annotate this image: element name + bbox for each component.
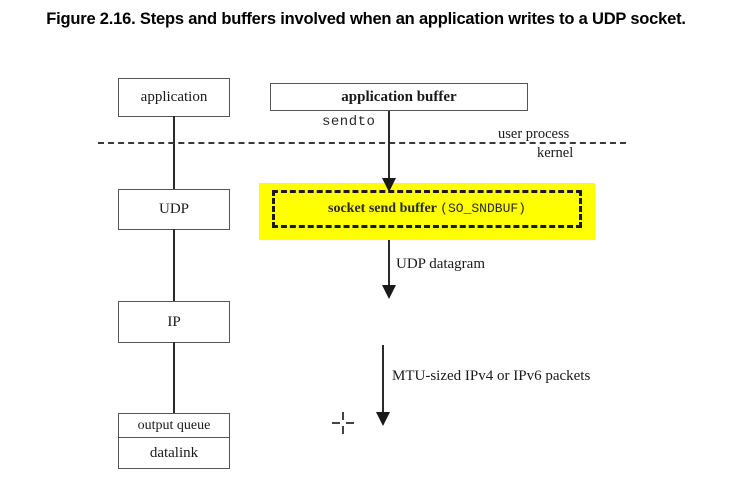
crosshair-center-gap	[340, 420, 346, 426]
diagram-canvas: application UDP IP output queue datalink…	[0, 0, 732, 478]
node-socket-send-buffer: socket send buffer (SO_SNDBUF)	[272, 190, 582, 228]
arrow-mtu-shaft	[382, 345, 384, 415]
connector-udp-ip	[173, 229, 175, 302]
arrow-udp-datagram-shaft	[388, 240, 390, 287]
node-udp: UDP	[118, 189, 230, 230]
node-application-buffer: application buffer	[270, 83, 528, 111]
node-application: application	[118, 78, 230, 117]
node-socket-send-buffer-label: socket send buffer (SO_SNDBUF)	[328, 201, 526, 217]
user-process-label: user process	[498, 126, 569, 143]
node-ip-label: IP	[167, 314, 180, 331]
arrow-sendto-label: sendto	[322, 114, 375, 130]
arrow-mtu-head	[376, 412, 390, 426]
node-datalink: datalink	[118, 437, 230, 469]
arrow-udp-datagram-label: UDP datagram	[396, 256, 485, 273]
node-output-queue: output queue	[118, 413, 230, 438]
node-application-label: application	[141, 89, 208, 106]
node-ip: IP	[118, 301, 230, 343]
arrow-udp-datagram-head	[382, 285, 396, 299]
node-udp-label: UDP	[159, 201, 189, 218]
kernel-label: kernel	[537, 145, 573, 162]
crosshair-cursor-icon	[332, 412, 354, 434]
arrow-sendto-shaft	[388, 111, 390, 185]
socket-buffer-option: (SO_SNDBUF)	[440, 201, 526, 216]
node-datalink-label: datalink	[150, 445, 198, 462]
socket-buffer-text: socket send buffer	[328, 201, 440, 216]
node-application-buffer-label: application buffer	[341, 89, 456, 106]
connector-application-udp	[173, 116, 175, 190]
arrow-sendto-head	[382, 178, 396, 192]
connector-ip-output-queue	[173, 342, 175, 414]
arrow-mtu-label: MTU-sized IPv4 or IPv6 packets	[392, 368, 590, 385]
node-output-queue-label: output queue	[138, 418, 211, 434]
